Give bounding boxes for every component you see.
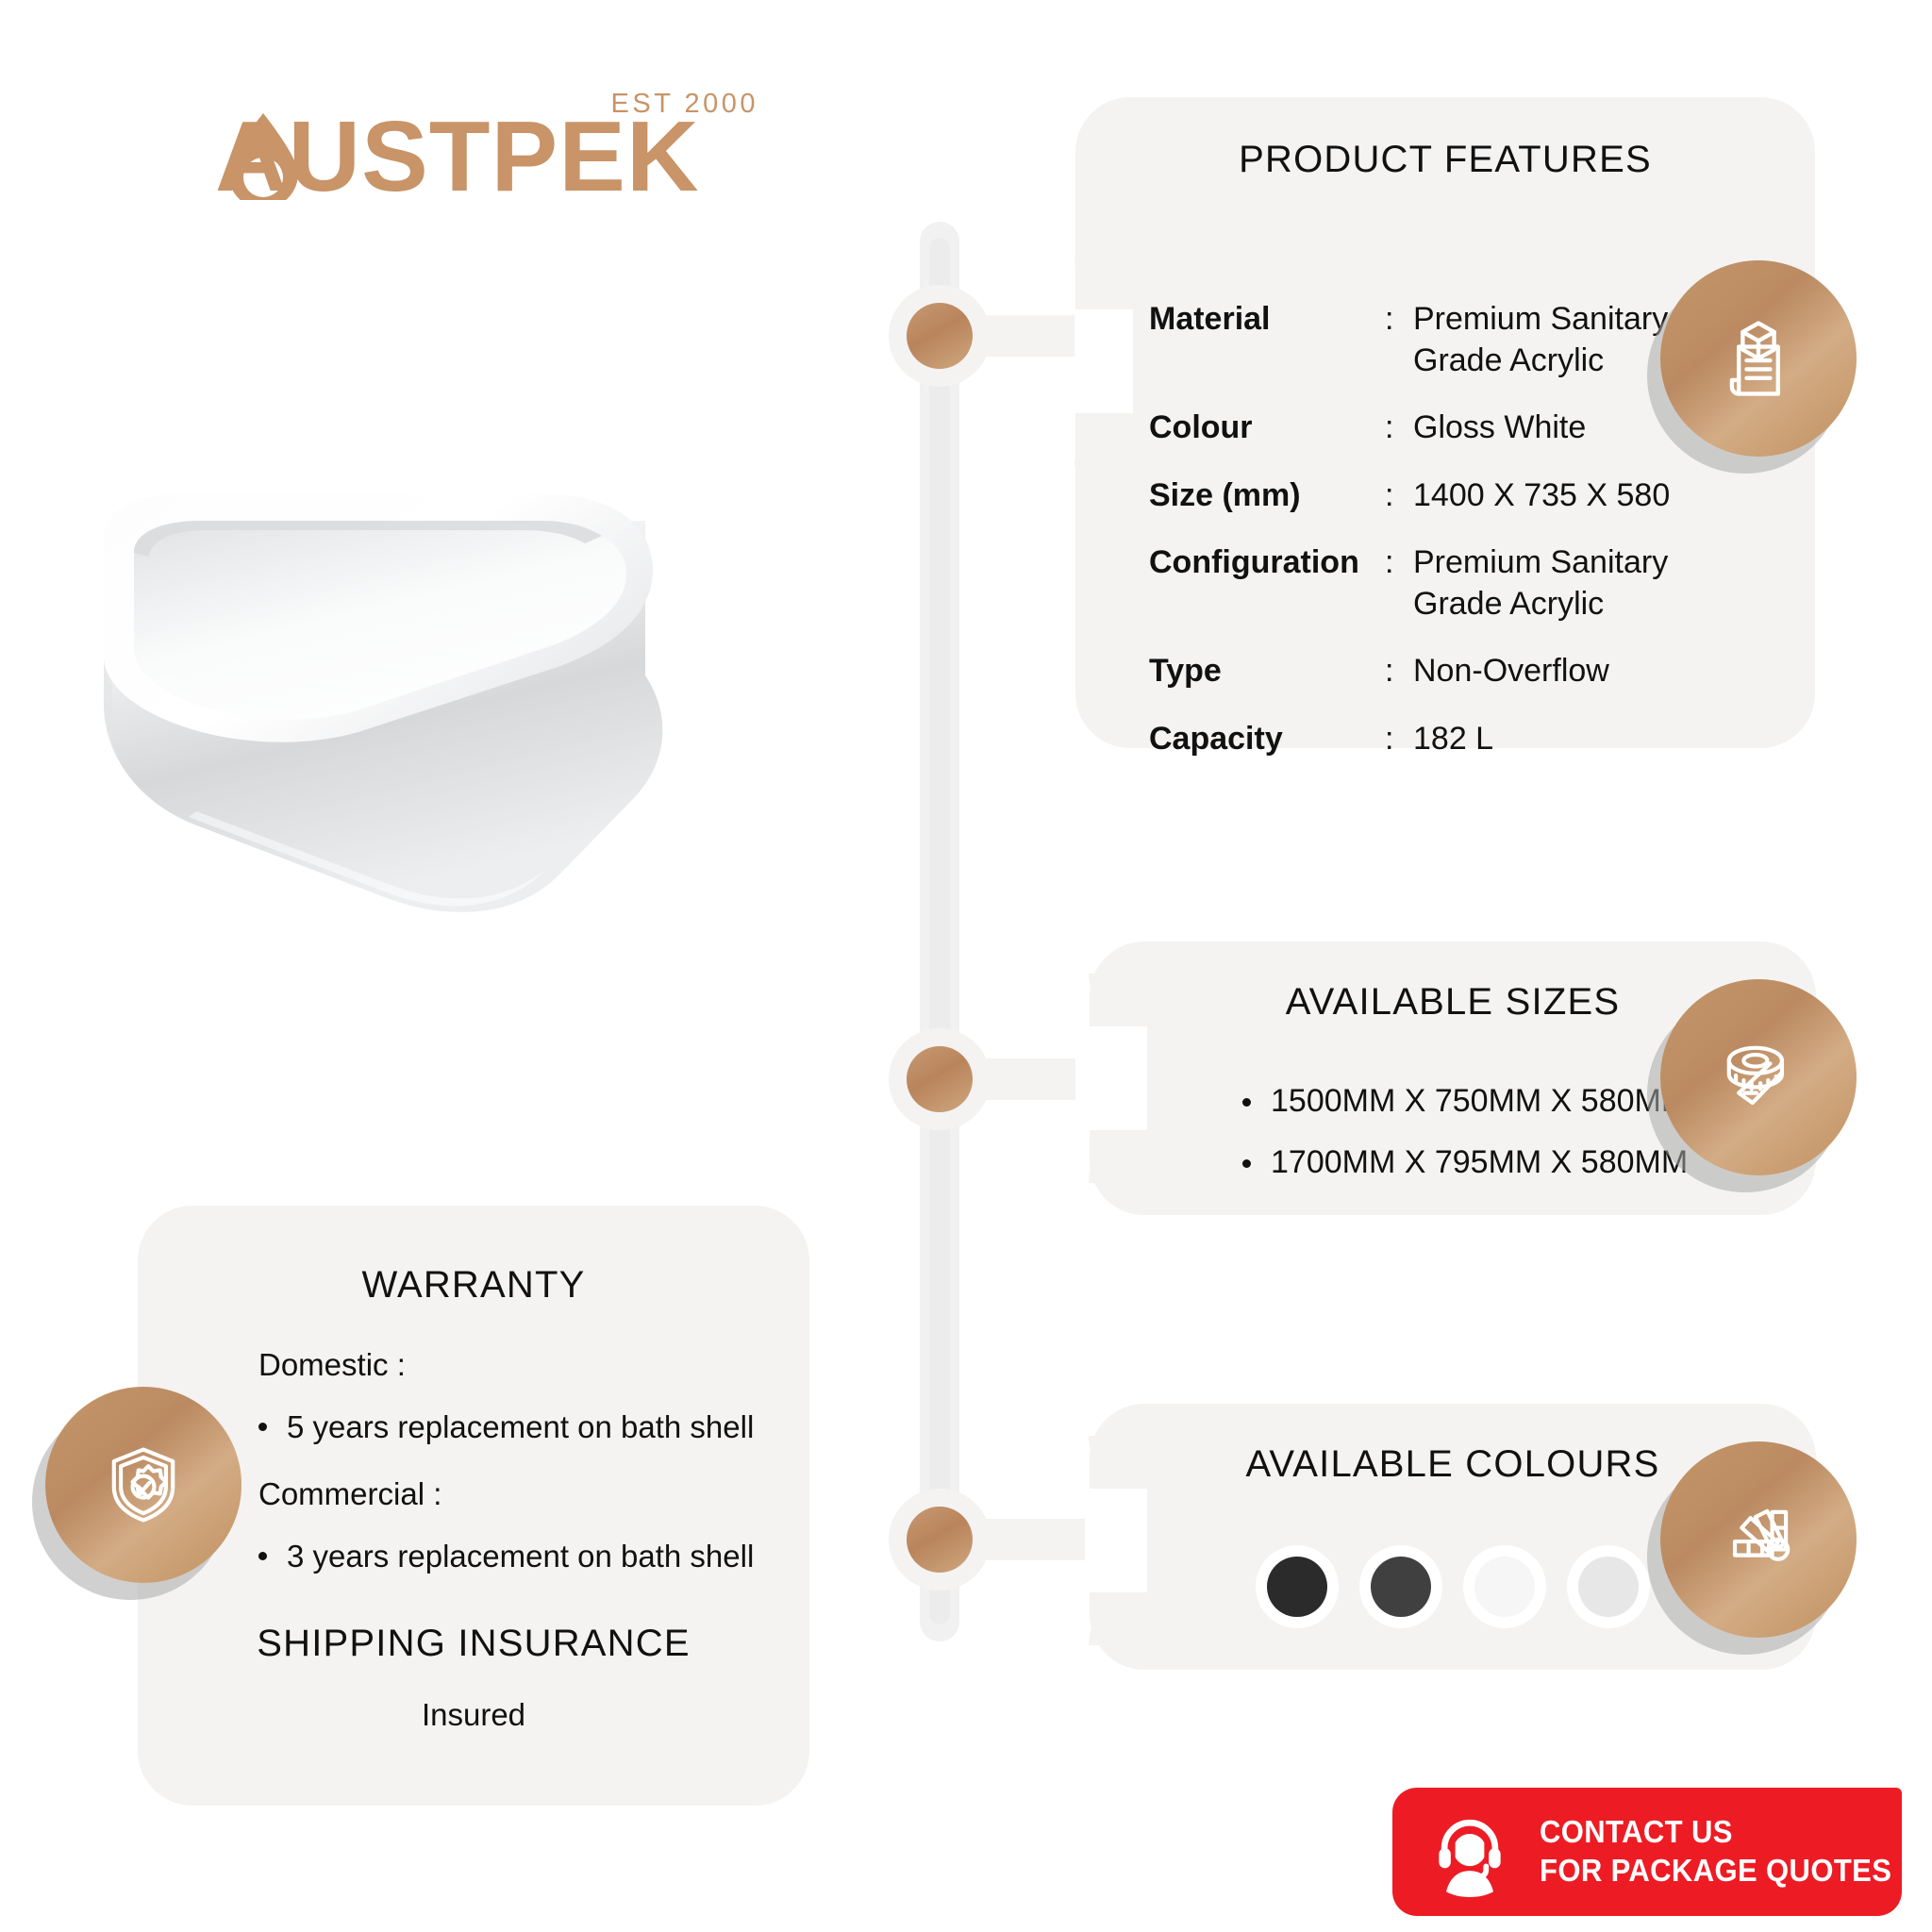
warranty-domestic-item: 5 years replacement on bath shell (138, 1407, 809, 1448)
connector-node-features (889, 285, 991, 387)
colour-swatch-fan-icon (1660, 1441, 1857, 1638)
spec-value: Non-Overflow (1413, 651, 1609, 692)
brand-name: AUSTPEK (215, 111, 743, 202)
connector-node-sizes (889, 1028, 991, 1130)
spec-value: 182 L (1413, 719, 1493, 760)
shield-check-glyph (94, 1436, 192, 1534)
contact-us-line1: CONTACT US (1540, 1813, 1891, 1852)
spec-key: Configuration (1149, 542, 1385, 625)
contact-us-badge[interactable]: CONTACT US FOR PACKAGE QUOTES (1392, 1788, 1902, 1916)
spec-value: Premium Sanitary Grade Acrylic (1413, 542, 1715, 625)
headset-support-icon (1424, 1807, 1515, 1897)
product-features-title: PRODUCT FEATURES (1075, 139, 1815, 181)
spec-colon: : (1385, 299, 1413, 381)
panel-notch (1074, 309, 1133, 413)
product-spec-scroll-glyph (1709, 309, 1807, 408)
panel-notch (1089, 1026, 1147, 1130)
spec-row: Size (mm) : 1400 X 735 X 580 (1149, 475, 1715, 517)
spec-colon: : (1385, 719, 1413, 760)
colour-swatch-fan-glyph (1709, 1491, 1807, 1589)
swatch-fill (1267, 1557, 1327, 1617)
spec-row: Colour : Gloss White (1149, 408, 1715, 449)
spec-colon: : (1385, 475, 1413, 517)
shipping-insurance-title: SHIPPING INSURANCE (138, 1623, 809, 1665)
spec-value: 1400 X 735 X 580 (1413, 475, 1670, 517)
spec-colon: : (1385, 542, 1413, 625)
colour-swatch-light-grey[interactable] (1567, 1545, 1650, 1628)
product-features-table: Material : Premium Sanitary Grade Acryli… (1149, 299, 1715, 786)
shield-check-icon (45, 1387, 241, 1583)
spec-key: Size (mm) (1149, 475, 1385, 517)
bathtub-product-image (75, 472, 840, 1000)
brand-logo: AUSTPEK EST 2000 (215, 91, 743, 200)
brand-established: EST 2000 (611, 89, 758, 120)
spec-key: Capacity (1149, 719, 1385, 760)
warranty-commercial-item: 3 years replacement on bath shell (138, 1537, 809, 1577)
swatch-fill (1578, 1557, 1639, 1617)
swatch-fill (1371, 1557, 1431, 1617)
measuring-tape-glyph (1709, 1028, 1807, 1126)
warranty-title: WARRANTY (138, 1264, 809, 1307)
contact-us-line2: FOR PACKAGE QUOTES (1540, 1852, 1891, 1890)
connector-node-colours (889, 1489, 991, 1591)
spec-row: Capacity : 182 L (1149, 719, 1715, 760)
infographic-canvas: AUSTPEK EST 2000 (0, 0, 1932, 1932)
spec-key: Colour (1149, 408, 1385, 449)
spec-row: Configuration : Premium Sanitary Grade A… (1149, 542, 1715, 625)
measuring-tape-icon (1660, 979, 1857, 1175)
spec-key: Material (1149, 299, 1385, 381)
warranty-content: Domestic : 5 years replacement on bath s… (138, 1347, 809, 1733)
spec-value: Gloss White (1413, 408, 1586, 449)
warranty-domestic-label: Domestic : (138, 1347, 809, 1383)
spec-colon: : (1385, 651, 1413, 692)
spec-row: Type : Non-Overflow (1149, 651, 1715, 692)
product-spec-scroll-icon (1660, 260, 1857, 457)
colour-swatch-matte-black[interactable] (1256, 1545, 1339, 1628)
connector-rail-inner (929, 238, 950, 1624)
colour-swatch-dark-grey[interactable] (1359, 1545, 1442, 1628)
shipping-insurance-value: Insured (138, 1697, 809, 1733)
contact-us-text: CONTACT US FOR PACKAGE QUOTES (1540, 1813, 1914, 1890)
spec-key: Type (1149, 651, 1385, 692)
list-item: 1700MM X 795MM X 580MM (1239, 1144, 1688, 1181)
available-sizes-list: 1500MM X 750MM X 580MM 1700MM X 795MM X … (1239, 1083, 1688, 1206)
list-item: 1500MM X 750MM X 580MM (1239, 1083, 1688, 1120)
spec-row: Material : Premium Sanitary Grade Acryli… (1149, 299, 1715, 381)
swatch-fill (1474, 1557, 1535, 1617)
spec-colon: : (1385, 408, 1413, 449)
colour-swatch-gloss-white[interactable] (1463, 1545, 1546, 1628)
